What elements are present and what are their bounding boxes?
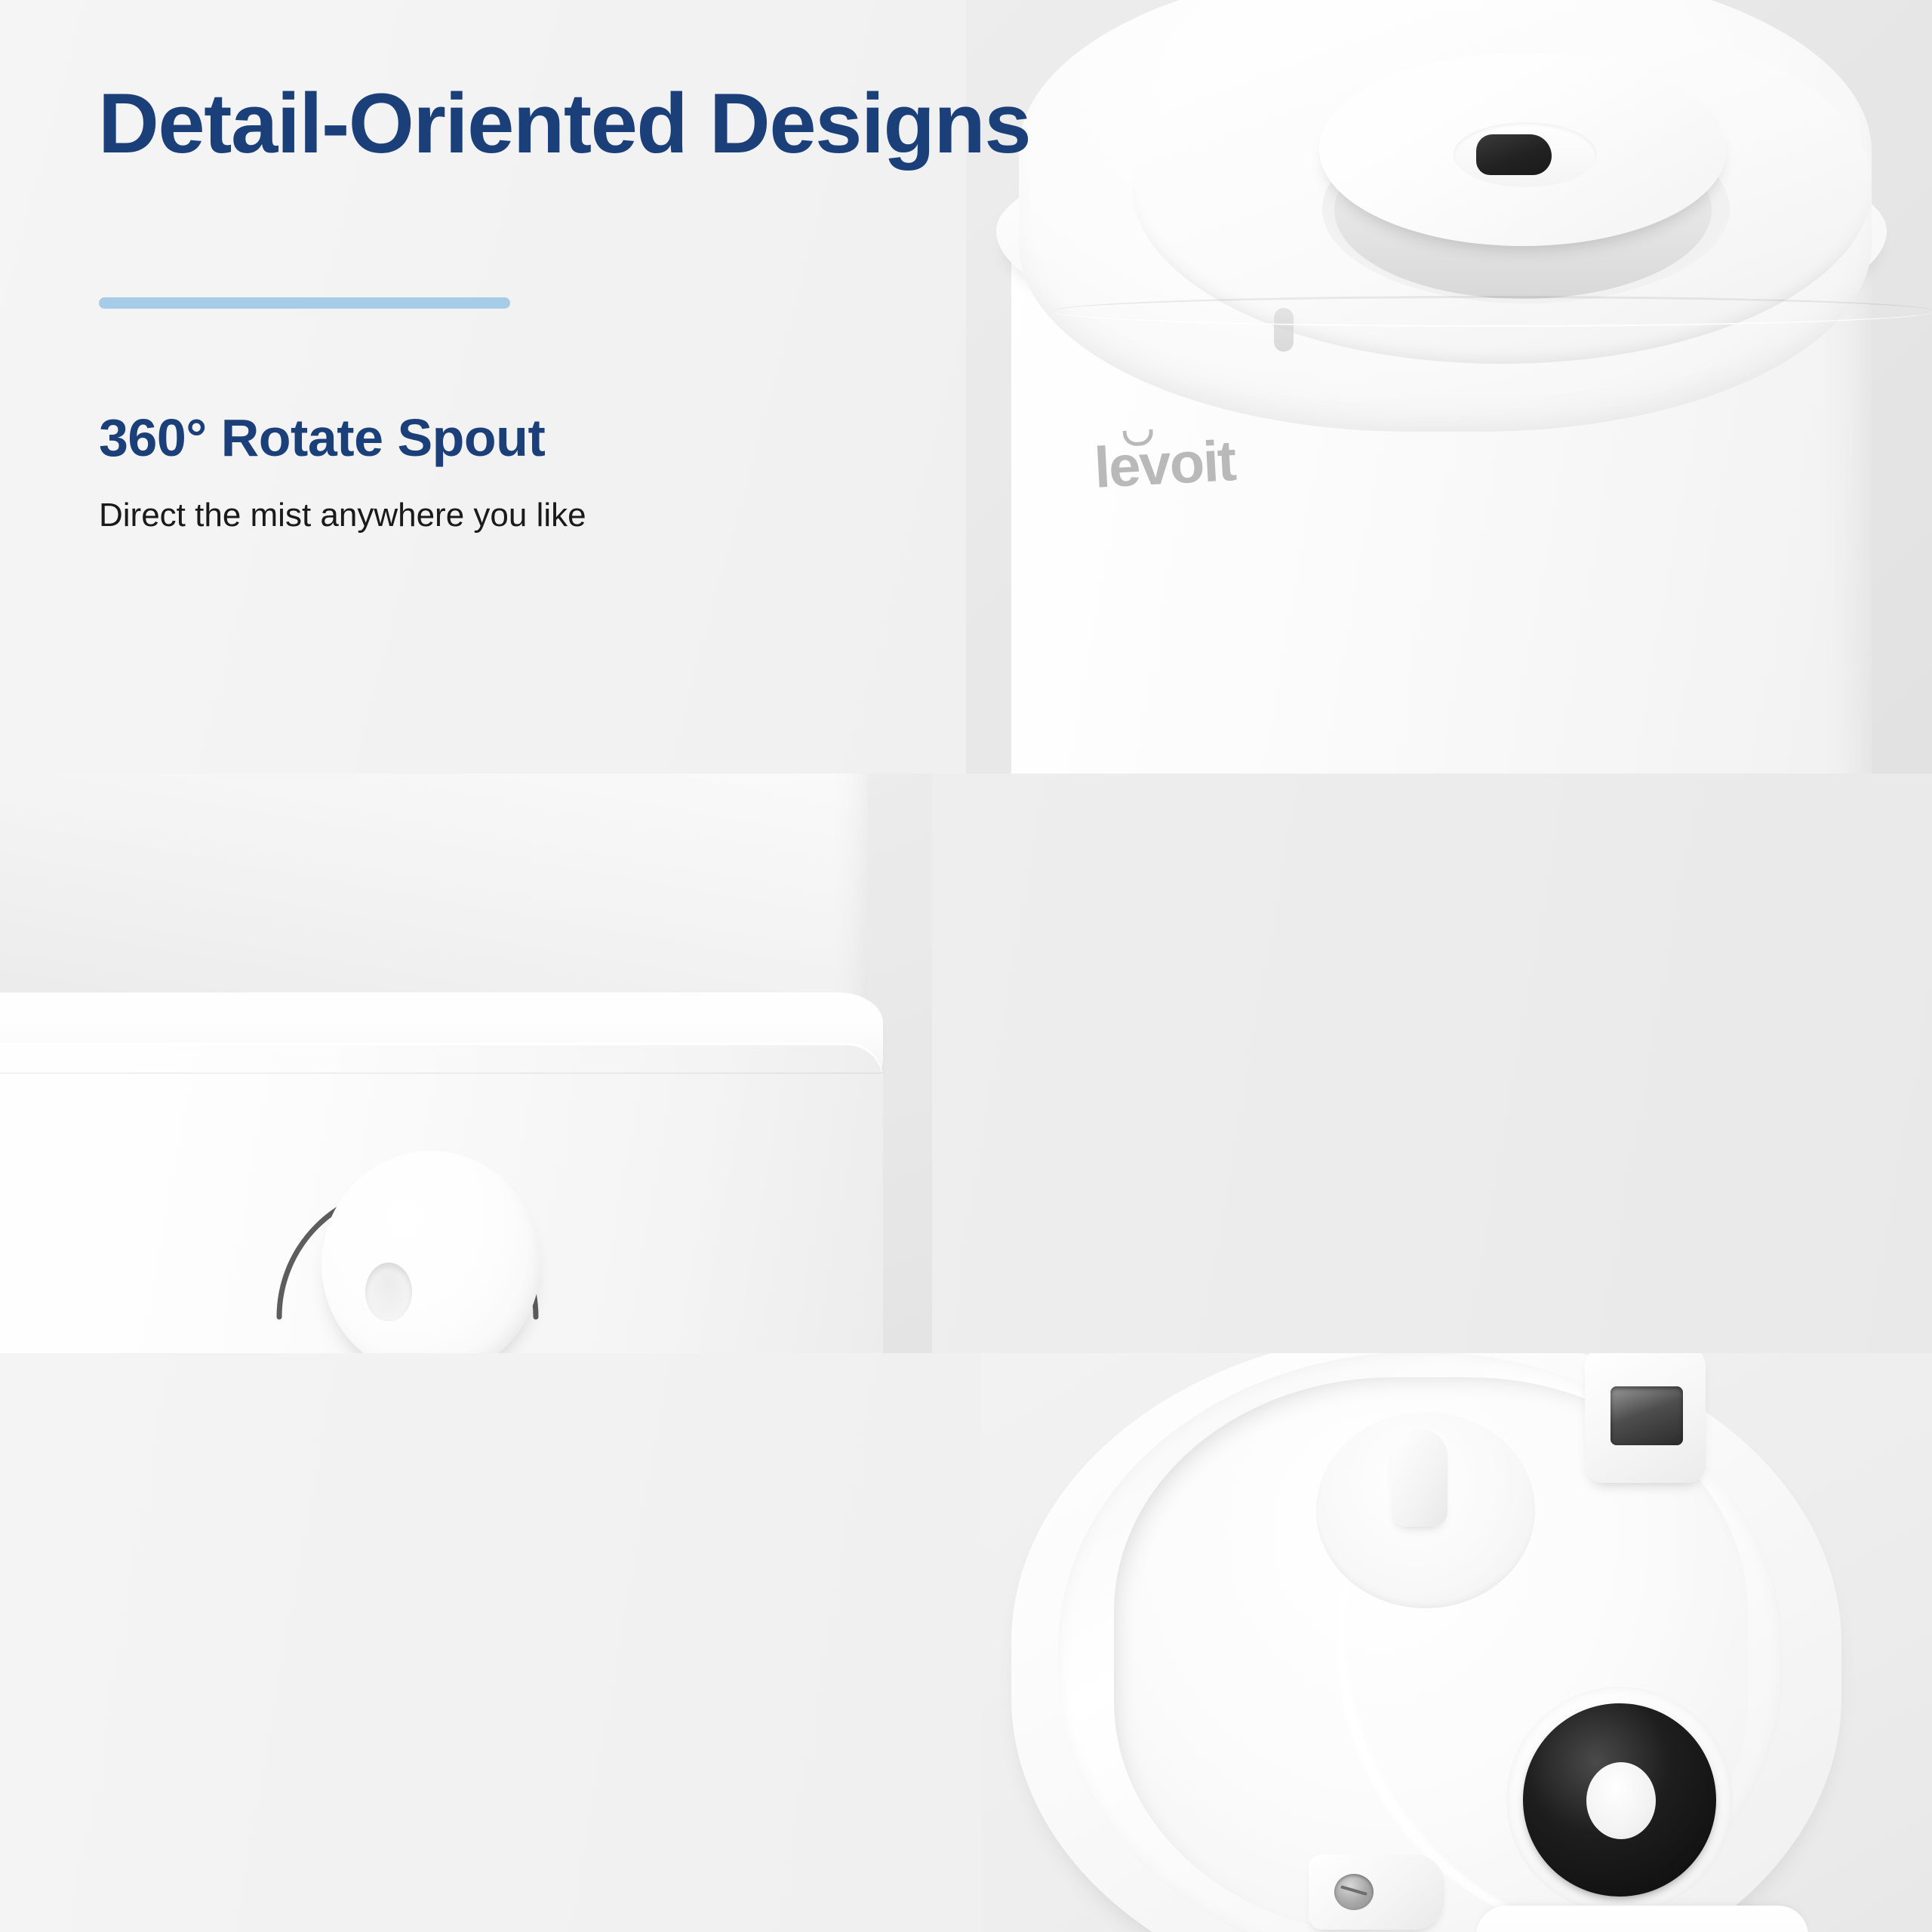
max-fill-label: MAX <box>1476 1927 1808 1932</box>
photo-humidifier-top: levoit <box>966 0 1932 774</box>
detachable-float-post[interactable] <box>1392 1429 1447 1527</box>
rotate-spout-disc[interactable] <box>1319 53 1727 246</box>
screw-icon <box>1334 1874 1374 1910</box>
float-mount-pad <box>1316 1412 1535 1608</box>
nozzle-pad <box>1454 122 1597 187</box>
max-fill-plate: MAX <box>1476 1906 1808 1932</box>
title-divider <box>99 297 510 309</box>
humidifier-top-cap <box>1019 0 1872 432</box>
levoit-logo-text: levoit <box>1093 429 1237 500</box>
power-connector <box>1585 1353 1706 1483</box>
knob-dimple <box>365 1263 412 1321</box>
screw-tab <box>1309 1854 1444 1930</box>
marketing-image-board: levoit Detail-Oriented Designs 360° Rota… <box>0 0 1932 1932</box>
base-outer-shell: MAX <box>1011 1353 1841 1932</box>
feature-title-rotate-spout: 360° Rotate Spout <box>99 411 545 464</box>
feature-subtitle-rotate-spout: Direct the mist anywhere you like <box>99 496 586 536</box>
panel-base-without-nooks: MAX Base without Nooks Easily clean all … <box>0 1353 1932 1932</box>
connector-slot-icon <box>1611 1386 1683 1445</box>
mist-nozzle-icon <box>1476 134 1552 175</box>
page-title: Detail-Oriented Designs <box>98 82 1030 166</box>
top-seam-line <box>1052 296 1932 327</box>
panel-rotate-spout: levoit Detail-Oriented Designs 360° Rota… <box>0 0 1932 774</box>
photo-dial-knob: OFF/ON MAX <box>0 774 932 1353</box>
transducer-ring <box>1523 1703 1716 1897</box>
panel-dial-knob: OFF/ON MAX Easy Dial Knob Adjust the oup… <box>0 774 1932 1353</box>
transducer-core <box>1586 1762 1656 1839</box>
levoit-logo: levoit <box>1093 428 1237 501</box>
photo-base-interior: MAX <box>981 1353 1932 1932</box>
transducer-housing <box>1506 1687 1733 1913</box>
